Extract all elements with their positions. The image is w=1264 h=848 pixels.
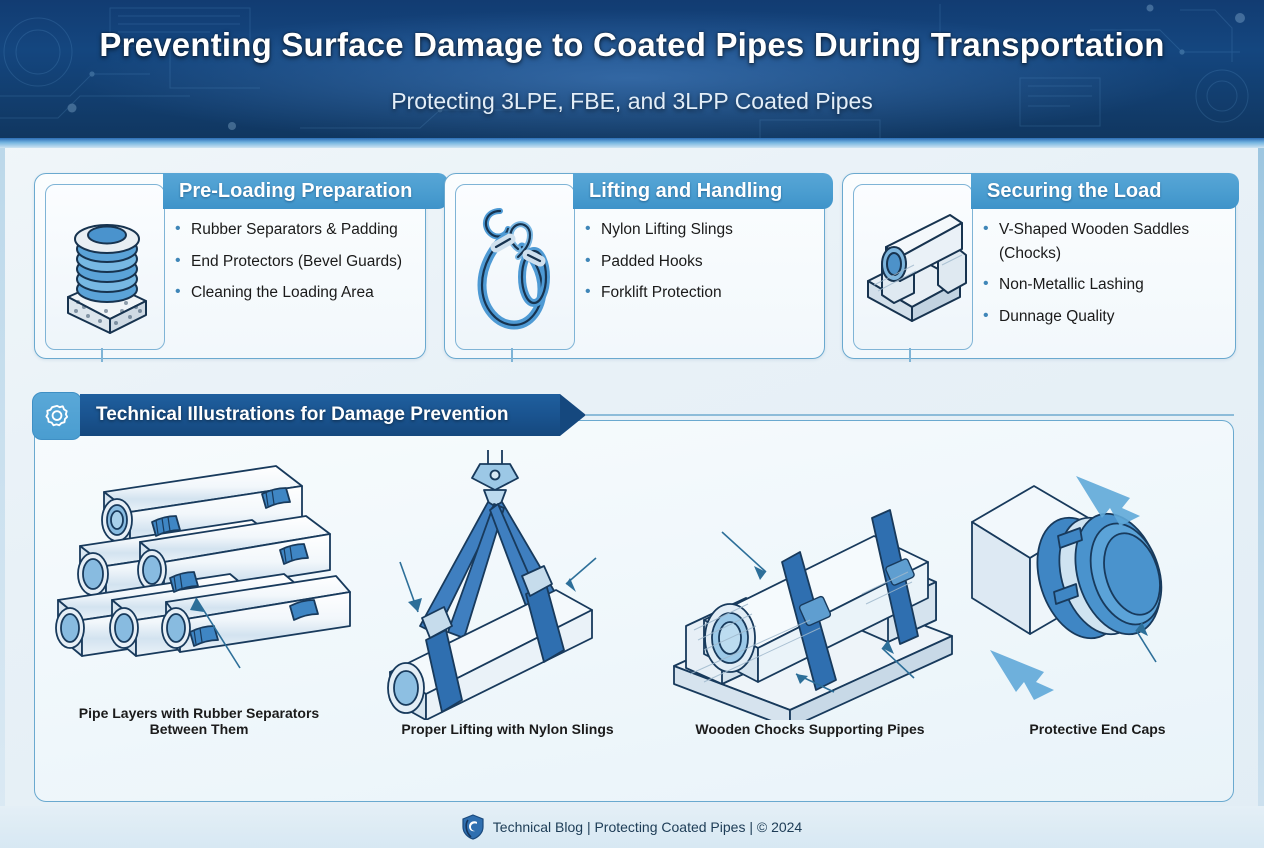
card-bullet-list: Rubber Separators & Padding End Protecto… (175, 218, 413, 313)
card-bullet-list: V-Shaped Wooden Saddles (Chocks) Non-Met… (983, 218, 1223, 336)
page-subtitle: Protecting 3LPE, FBE, and 3LPP Coated Pi… (0, 88, 1264, 115)
footer-text: Technical Blog | Protecting Coated Pipes… (493, 819, 802, 835)
section-title-banner: Technical Illustrations for Damage Preve… (80, 394, 560, 436)
pipe-lifted-by-nylon-slings-drawing (360, 450, 655, 720)
card-title: Securing the Load (971, 180, 1161, 203)
card-title: Lifting and Handling (573, 180, 782, 203)
direction-arrow-bottom (990, 650, 1054, 700)
list-item: Non-Metallic Lashing (983, 273, 1223, 297)
illustration-caption: Proper Lifting with Nylon Slings (360, 721, 655, 738)
list-item: Nylon Lifting Slings (585, 218, 812, 242)
illustration-caption: Wooden Chocks Supporting Pipes (660, 721, 960, 738)
card-title: Pre-Loading Preparation (163, 180, 412, 203)
header-glow (0, 0, 1264, 142)
caption-line-1: Wooden Chocks Supporting Pipes (660, 721, 960, 738)
section-divider-rule (586, 414, 1234, 416)
page-footer: Technical Blog | Protecting Coated Pipes… (0, 806, 1264, 848)
shield-logo-icon (462, 814, 484, 840)
caption-line-2: Between Them (44, 721, 354, 738)
pipe-on-wooden-saddle-icon (854, 185, 972, 349)
card-icon-container (45, 184, 165, 350)
illustration-caption: Protective End Caps (960, 721, 1235, 738)
section-banner-arrow (560, 394, 586, 436)
right-edge-accent (1258, 148, 1264, 848)
list-item: End Protectors (Bevel Guards) (175, 250, 413, 274)
caption-line-1: Proper Lifting with Nylon Slings (360, 721, 655, 738)
illustration-wooden-chocks: Wooden Saddle: Custom fit, stable supper… (660, 450, 960, 780)
nylon-sling-hook-icon (456, 185, 574, 349)
card-title-banner: Securing the Load (971, 173, 1239, 209)
card-pre-loading-preparation[interactable]: Pre-Loading Preparation Rubber Separator… (34, 173, 426, 359)
card-title-banner: Pre-Loading Preparation (163, 173, 448, 209)
illustration-caption: Pipe Layers with Rubber Separators Betwe… (44, 705, 354, 738)
card-lifting-and-handling[interactable]: Lifting and Handling Nylon Lifting Sling… (444, 173, 825, 359)
list-item: Padded Hooks (585, 250, 812, 274)
page-header: Preventing Surface Damage to Coated Pipe… (0, 0, 1264, 142)
list-item: Dunnage Quality (983, 305, 1223, 329)
page-title: Preventing Surface Damage to Coated Pipe… (0, 26, 1264, 64)
header-underline (0, 138, 1264, 148)
card-connector-stub (511, 348, 513, 362)
section-title: Technical Illustrations for Damage Preve… (80, 404, 508, 426)
card-title-banner: Lifting and Handling (573, 173, 833, 209)
list-item: Rubber Separators & Padding (175, 218, 413, 242)
list-item: V-Shaped Wooden Saddles (Chocks) (983, 218, 1223, 265)
card-icon-container (853, 184, 973, 350)
pipe-on-wooden-chocks-drawing (660, 450, 960, 720)
card-connector-stub (101, 348, 103, 362)
illustration-pipe-layers: Rubher Separator: Absorbs imgact, preven… (44, 450, 354, 780)
stacked-rubber-rings-on-pad-icon (46, 185, 164, 349)
list-item: Forklift Protection (585, 281, 812, 305)
illustration-protective-end-caps: End Cap: Protects bevel, seals against c… (960, 450, 1235, 780)
stacked-pipes-with-separators-drawing (44, 450, 354, 720)
infographic-page: Preventing Surface Damage to Coated Pipe… (0, 0, 1264, 848)
list-item: Cleaning the Loading Area (175, 281, 413, 305)
card-securing-the-load[interactable]: Securing the Load V-Shaped Wooden Saddle… (842, 173, 1236, 359)
illustration-proper-lifting: Pope Sing: Melai-to-metal or coating to-… (360, 450, 655, 780)
card-connector-stub (909, 348, 911, 362)
card-bullet-list: Nylon Lifting Slings Padded Hooks Forkli… (585, 218, 812, 313)
gear-icon (32, 392, 82, 440)
caption-line-1: Protective End Caps (960, 721, 1235, 738)
left-edge-accent (0, 148, 5, 848)
caption-line-1: Pipe Layers with Rubber Separators (44, 705, 354, 722)
protective-end-cap-drawing (960, 450, 1235, 720)
card-icon-container (455, 184, 575, 350)
